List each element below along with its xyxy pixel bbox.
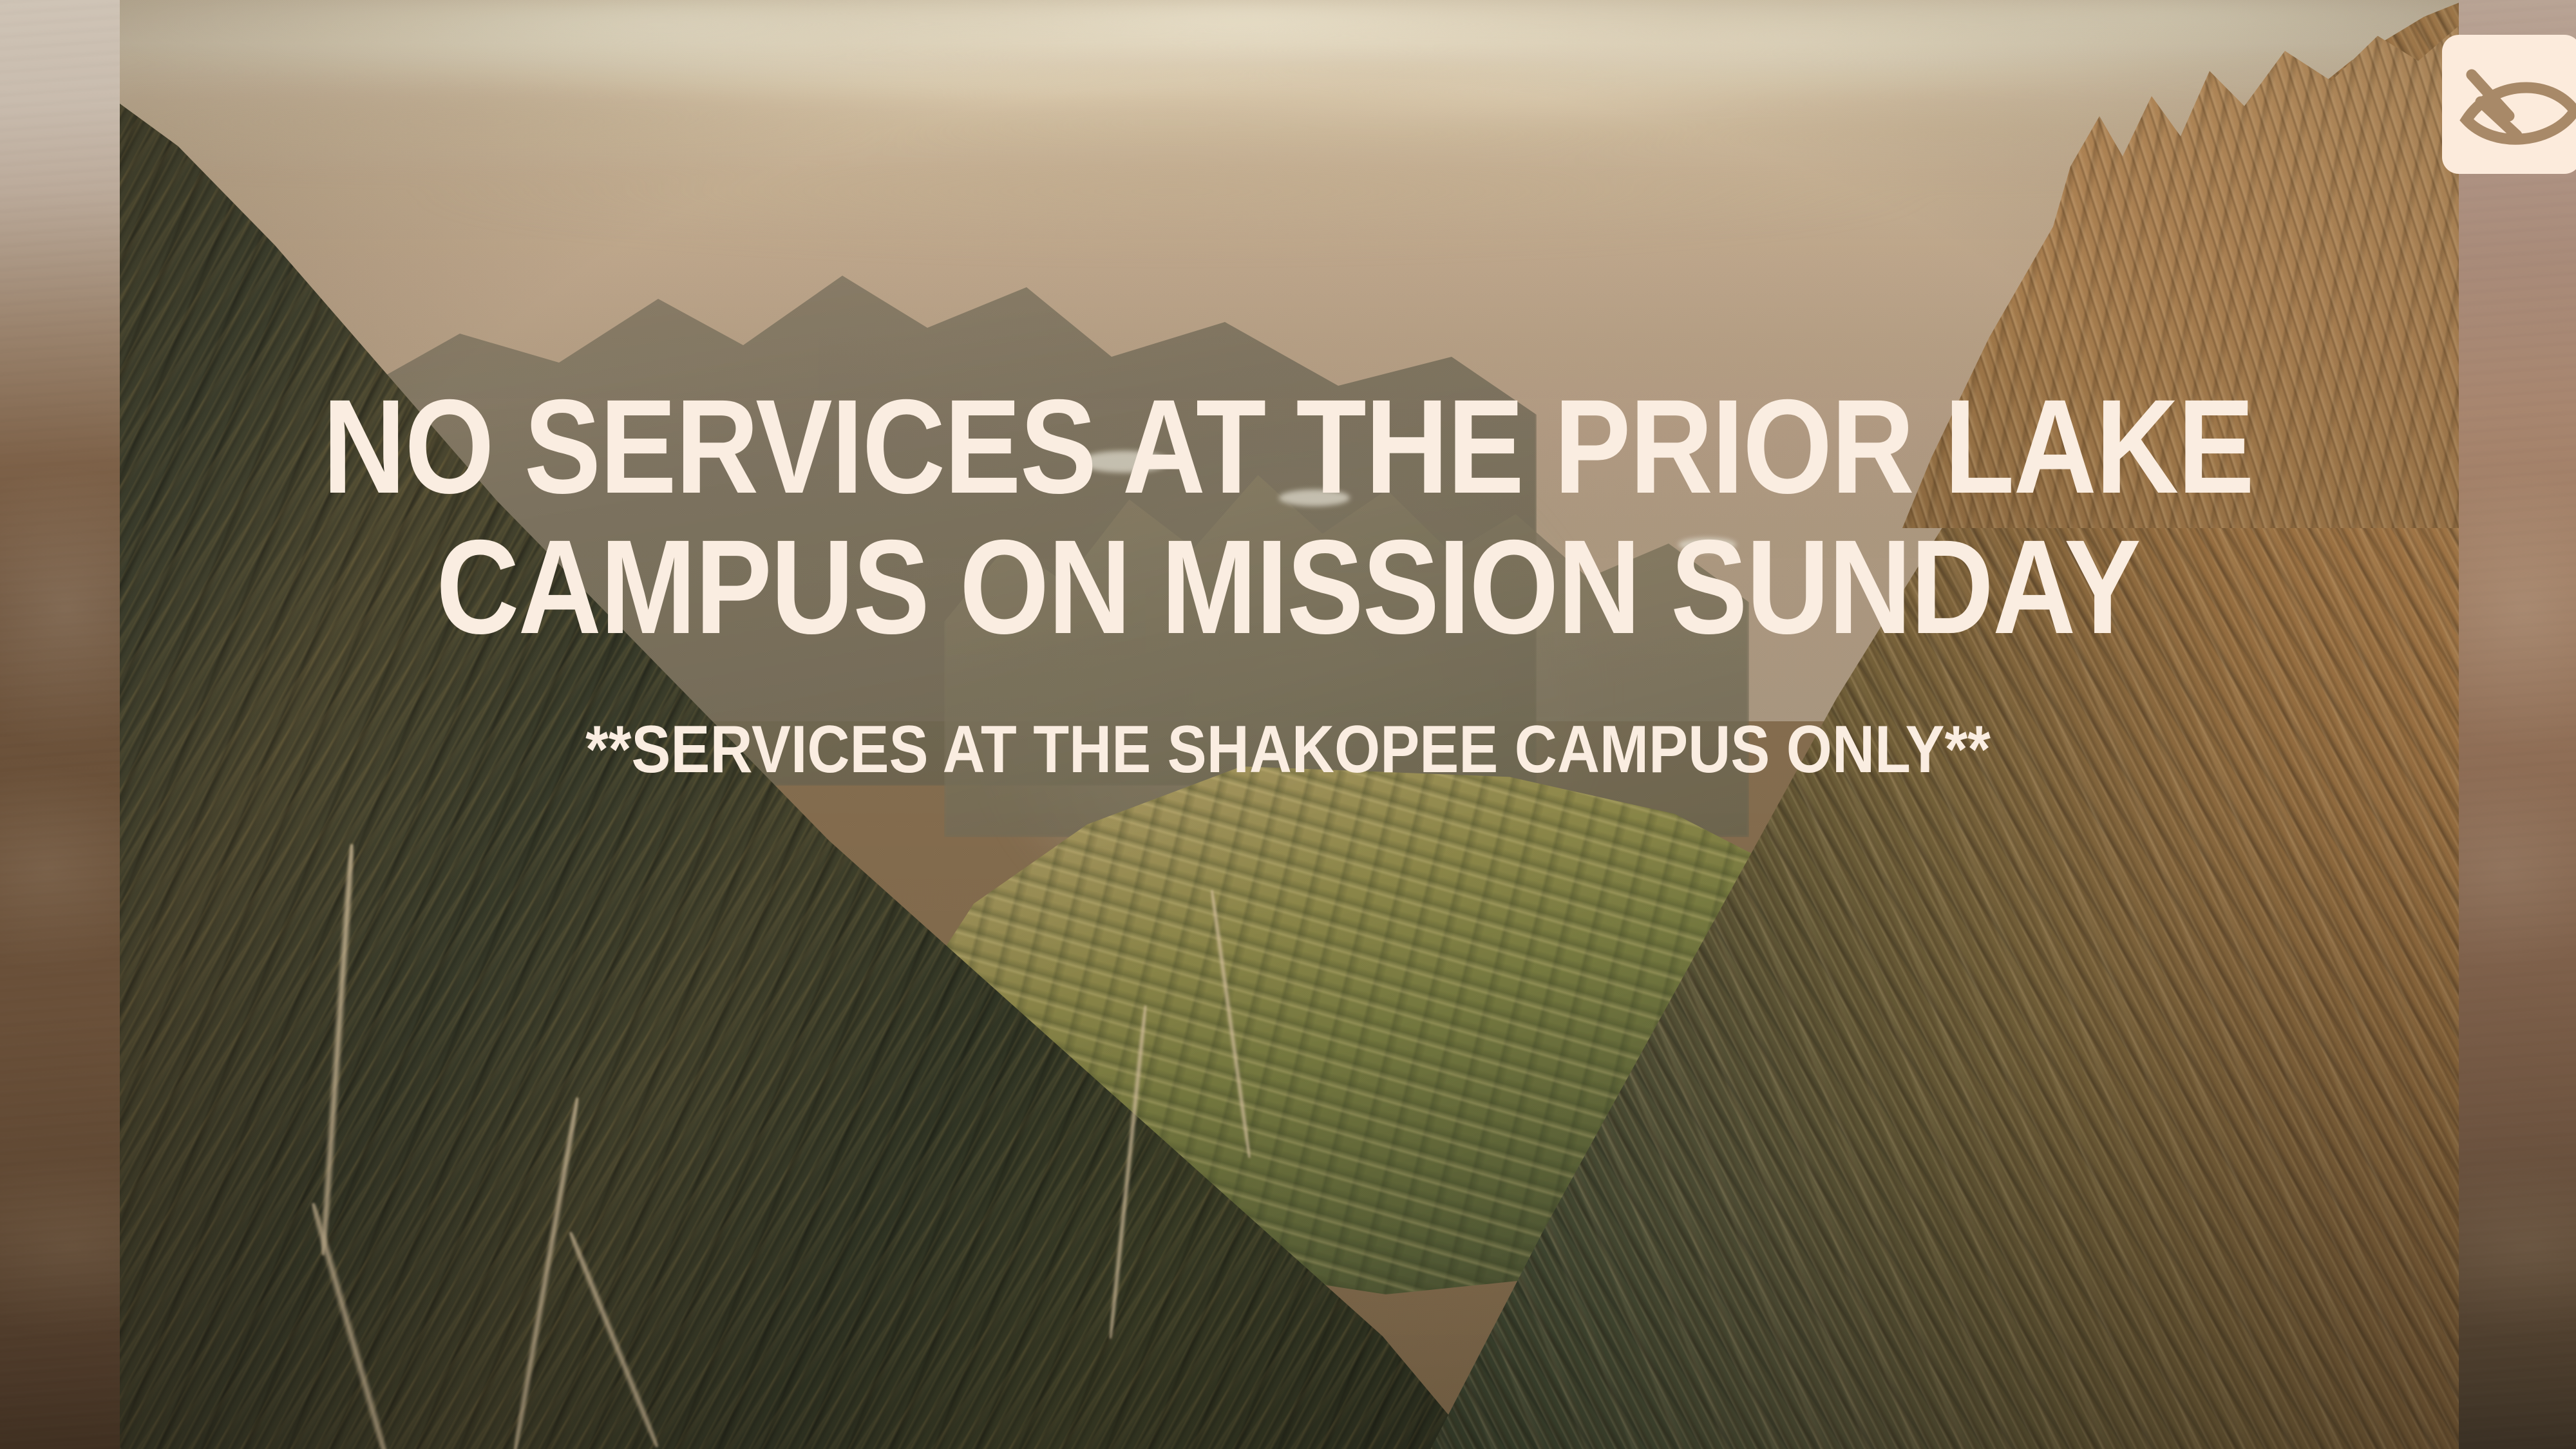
background-photo [120,0,2459,1449]
right-fill-smear [2459,0,2576,1449]
fish-icon [2442,35,2576,174]
right-blurred-fill-strip [2459,0,2576,1449]
announcement-slide: NO SERVICES AT THE PRIOR LAKE CAMPUS ON … [0,0,2576,1449]
film-grain [120,0,2459,1449]
ichthys-fish-logo [2442,35,2576,174]
left-blurred-fill-strip [0,0,120,1449]
left-fill-smear [0,0,120,1449]
